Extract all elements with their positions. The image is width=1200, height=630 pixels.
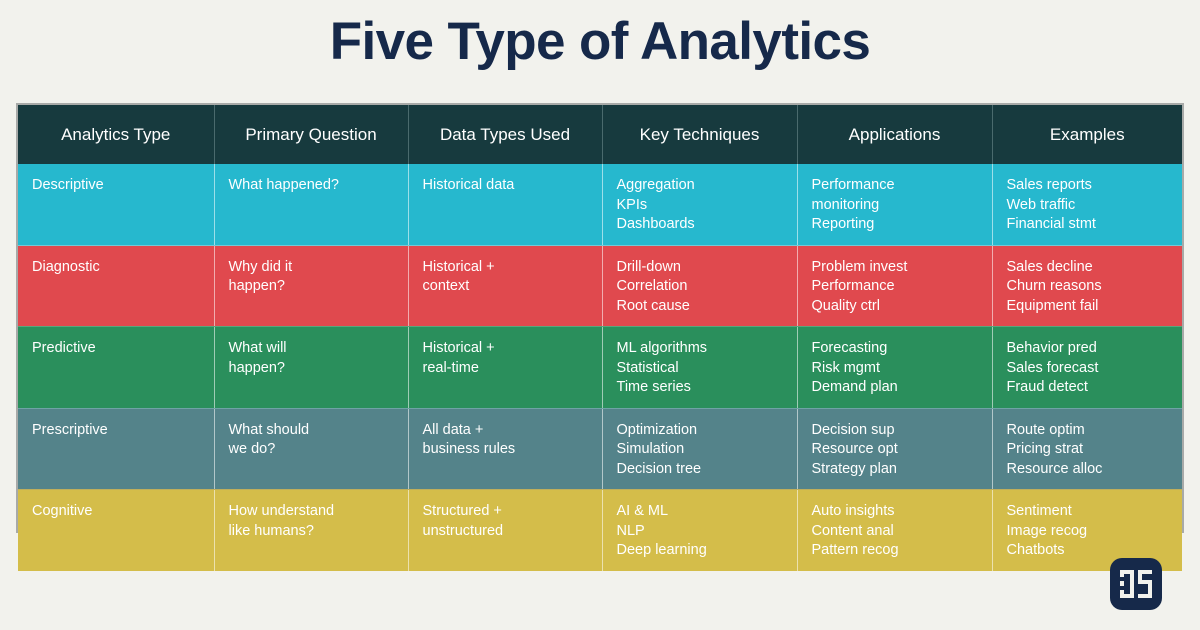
text-line: Drill-down bbox=[617, 258, 783, 278]
table-header: Analytics Type Primary Question Data Typ… bbox=[18, 105, 1182, 164]
text-line: like humans? bbox=[229, 522, 394, 542]
text-line: Sales forecast bbox=[1007, 359, 1169, 379]
text-line: Sentiment bbox=[1007, 502, 1169, 522]
text-line: Decision tree bbox=[617, 460, 783, 480]
text-line: Web traffic bbox=[1007, 196, 1169, 216]
text-line: Statistical bbox=[617, 359, 783, 379]
cell-analytics-type: Cognitive bbox=[18, 490, 214, 571]
text-line: Sales reports bbox=[1007, 176, 1169, 196]
analytics-type-label: Cognitive bbox=[32, 502, 200, 522]
text-line: Performance bbox=[812, 277, 978, 297]
cell-examples: Sales decline Churn reasons Equipment fa… bbox=[992, 245, 1182, 327]
cell-analytics-type: Predictive bbox=[18, 327, 214, 409]
text-line: context bbox=[423, 277, 588, 297]
cell-primary-question: How understand like humans? bbox=[214, 490, 408, 571]
cell-key-techniques: Aggregation KPIs Dashboards bbox=[602, 164, 797, 245]
text-line: Decision sup bbox=[812, 421, 978, 441]
table-row: Cognitive How understand like humans? St… bbox=[18, 490, 1182, 571]
text-line: Equipment fail bbox=[1007, 297, 1169, 317]
brand-logo bbox=[1110, 558, 1162, 610]
analytics-type-label: Prescriptive bbox=[32, 421, 200, 441]
analytics-table-container: Analytics Type Primary Question Data Typ… bbox=[16, 103, 1184, 533]
analytics-type-label: Predictive bbox=[32, 339, 200, 359]
text-line: Problem invest bbox=[812, 258, 978, 278]
text-line: Demand plan bbox=[812, 378, 978, 398]
cell-primary-question: What will happen? bbox=[214, 327, 408, 409]
cell-data-types: Historical + real-time bbox=[408, 327, 602, 409]
text-line: Strategy plan bbox=[812, 460, 978, 480]
column-header-analytics-type: Analytics Type bbox=[18, 105, 214, 164]
text-line: Deep learning bbox=[617, 541, 783, 561]
cell-examples: Sales reports Web traffic Financial stmt bbox=[992, 164, 1182, 245]
table-row: Diagnostic Why did it happen? Historical… bbox=[18, 245, 1182, 327]
text-line: Optimization bbox=[617, 421, 783, 441]
text-line: Dashboards bbox=[617, 215, 783, 235]
text-line: Sales decline bbox=[1007, 258, 1169, 278]
text-line: KPIs bbox=[617, 196, 783, 216]
cell-key-techniques: ML algorithms Statistical Time series bbox=[602, 327, 797, 409]
cell-primary-question: Why did it happen? bbox=[214, 245, 408, 327]
table-body: Descriptive What happened? Historical da… bbox=[18, 164, 1182, 571]
column-header-examples: Examples bbox=[992, 105, 1182, 164]
text-line: Quality ctrl bbox=[812, 297, 978, 317]
text-line: Performance bbox=[812, 176, 978, 196]
cell-applications: Decision sup Resource opt Strategy plan bbox=[797, 408, 992, 490]
text-line: Content anal bbox=[812, 522, 978, 542]
cell-applications: Problem invest Performance Quality ctrl bbox=[797, 245, 992, 327]
text-line: business rules bbox=[423, 440, 588, 460]
column-header-applications: Applications bbox=[797, 105, 992, 164]
text-line: All data + bbox=[423, 421, 588, 441]
text-line: How understand bbox=[229, 502, 394, 522]
text-line: Churn reasons bbox=[1007, 277, 1169, 297]
cell-applications: Forecasting Risk mgmt Demand plan bbox=[797, 327, 992, 409]
text-line: ML algorithms bbox=[617, 339, 783, 359]
text-line: Historical + bbox=[423, 258, 588, 278]
text-line: Resource alloc bbox=[1007, 460, 1169, 480]
cell-examples: Route optim Pricing strat Resource alloc bbox=[992, 408, 1182, 490]
analytics-type-label: Diagnostic bbox=[32, 258, 200, 278]
text-line: Forecasting bbox=[812, 339, 978, 359]
cell-key-techniques: Optimization Simulation Decision tree bbox=[602, 408, 797, 490]
cell-analytics-type: Descriptive bbox=[18, 164, 214, 245]
cell-primary-question: What should we do? bbox=[214, 408, 408, 490]
poster-canvas: Five Type of Analytics Analytics Type Pr… bbox=[0, 0, 1200, 630]
text-line: unstructured bbox=[423, 522, 588, 542]
table-row: Predictive What will happen? Historical … bbox=[18, 327, 1182, 409]
text-line: Behavior pred bbox=[1007, 339, 1169, 359]
column-header-key-techniques: Key Techniques bbox=[602, 105, 797, 164]
cell-key-techniques: AI & ML NLP Deep learning bbox=[602, 490, 797, 571]
text-line: What happened? bbox=[229, 176, 394, 196]
text-line: we do? bbox=[229, 440, 394, 460]
text-line: Pricing strat bbox=[1007, 440, 1169, 460]
text-line: Historical + bbox=[423, 339, 588, 359]
text-line: real-time bbox=[423, 359, 588, 379]
text-line: Risk mgmt bbox=[812, 359, 978, 379]
cell-analytics-type: Prescriptive bbox=[18, 408, 214, 490]
title-container: Five Type of Analytics bbox=[0, 0, 1200, 74]
text-line: Structured + bbox=[423, 502, 588, 522]
text-line: Historical data bbox=[423, 176, 588, 196]
text-line: Correlation bbox=[617, 277, 783, 297]
text-line: Resource opt bbox=[812, 440, 978, 460]
cell-key-techniques: Drill-down Correlation Root cause bbox=[602, 245, 797, 327]
text-line: happen? bbox=[229, 277, 394, 297]
text-line: What should bbox=[229, 421, 394, 441]
text-line: Fraud detect bbox=[1007, 378, 1169, 398]
text-line: Why did it bbox=[229, 258, 394, 278]
text-line: Financial stmt bbox=[1007, 215, 1169, 235]
text-line: NLP bbox=[617, 522, 783, 542]
text-line: Image recog bbox=[1007, 522, 1169, 542]
cell-analytics-type: Diagnostic bbox=[18, 245, 214, 327]
text-line: Auto insights bbox=[812, 502, 978, 522]
analytics-type-label: Descriptive bbox=[32, 176, 200, 196]
cell-data-types: All data + business rules bbox=[408, 408, 602, 490]
column-header-data-types-used: Data Types Used bbox=[408, 105, 602, 164]
table-row: Descriptive What happened? Historical da… bbox=[18, 164, 1182, 245]
cell-primary-question: What happened? bbox=[214, 164, 408, 245]
text-line: AI & ML bbox=[617, 502, 783, 522]
text-line: Pattern recog bbox=[812, 541, 978, 561]
table-header-row: Analytics Type Primary Question Data Typ… bbox=[18, 105, 1182, 164]
brand-logo-mark bbox=[1119, 569, 1153, 599]
cell-data-types: Historical + context bbox=[408, 245, 602, 327]
text-line: Simulation bbox=[617, 440, 783, 460]
text-line: Route optim bbox=[1007, 421, 1169, 441]
text-line: Aggregation bbox=[617, 176, 783, 196]
analytics-table: Analytics Type Primary Question Data Typ… bbox=[18, 105, 1182, 571]
cell-applications: Auto insights Content anal Pattern recog bbox=[797, 490, 992, 571]
text-line: What will bbox=[229, 339, 394, 359]
table-row: Prescriptive What should we do? All data… bbox=[18, 408, 1182, 490]
text-line: monitoring bbox=[812, 196, 978, 216]
text-line: happen? bbox=[229, 359, 394, 379]
cell-data-types: Historical data bbox=[408, 164, 602, 245]
cell-examples: Behavior pred Sales forecast Fraud detec… bbox=[992, 327, 1182, 409]
page-title: Five Type of Analytics bbox=[0, 11, 1200, 74]
text-line: Root cause bbox=[617, 297, 783, 317]
text-line: Reporting bbox=[812, 215, 978, 235]
cell-data-types: Structured + unstructured bbox=[408, 490, 602, 571]
text-line: Time series bbox=[617, 378, 783, 398]
cell-applications: Performance monitoring Reporting bbox=[797, 164, 992, 245]
column-header-primary-question: Primary Question bbox=[214, 105, 408, 164]
